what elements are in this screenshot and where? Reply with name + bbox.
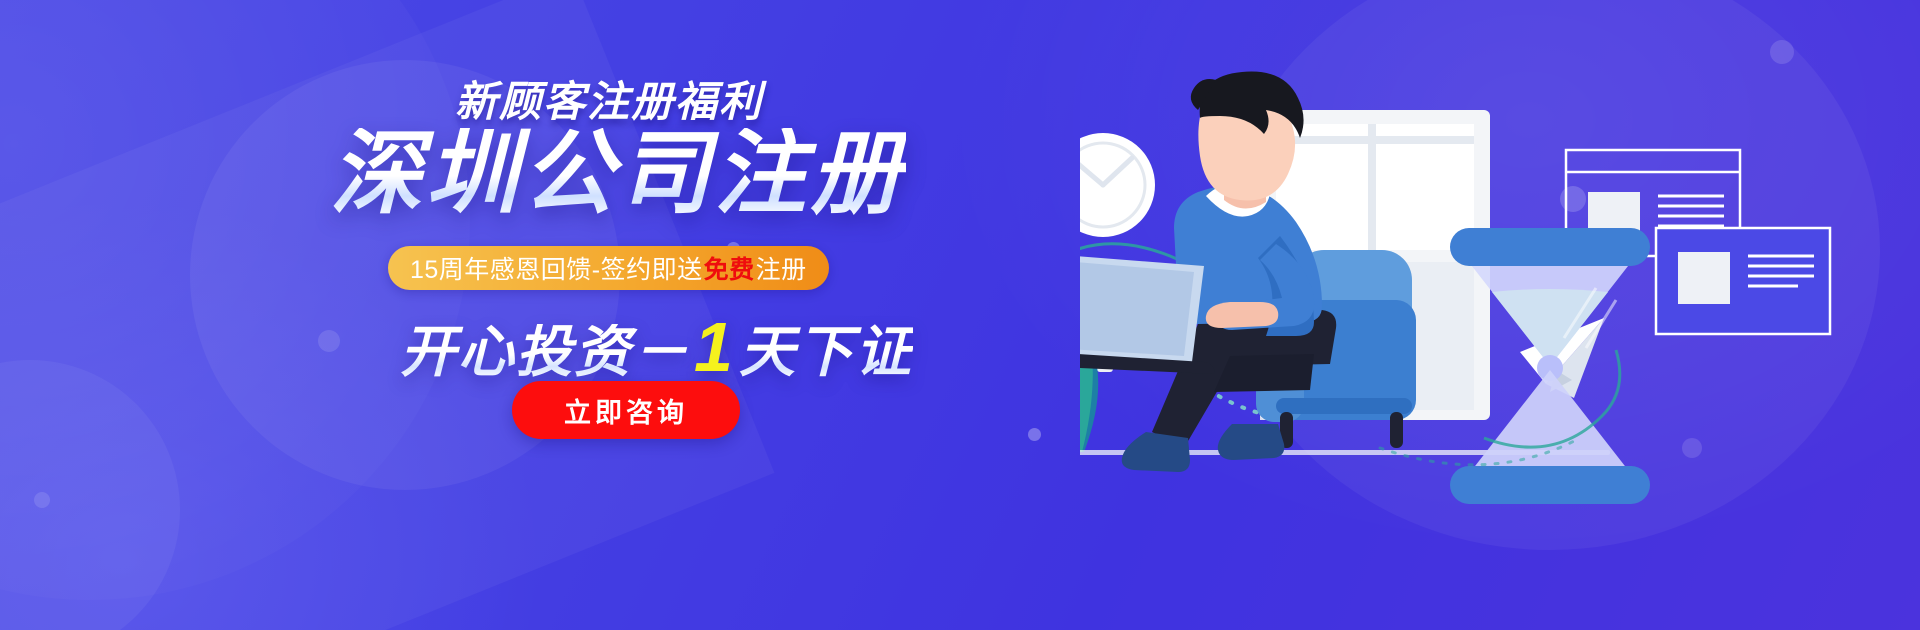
copy-block: 新顾客注册福利 深圳公司注册 15周年感恩回馈-签约即送免费注册 开心投资－1天… xyxy=(0,0,980,630)
tagline: 开心投资－1天下证 xyxy=(400,312,913,382)
tagline-trail: 天下证 xyxy=(739,324,913,380)
promo-pill-prefix: 15周年感恩回馈-签约即送 xyxy=(410,250,703,286)
tagline-number: 1 xyxy=(690,312,739,382)
tagline-lead: 开心投资－ xyxy=(400,324,690,380)
eyebrow-text: 新顾客注册福利 xyxy=(455,68,763,129)
clock-icon xyxy=(1080,133,1155,237)
promo-banner: 新顾客注册福利 深圳公司注册 15周年感恩回馈-签约即送免费注册 开心投资－1天… xyxy=(0,0,1920,630)
background-dot xyxy=(1028,428,1041,441)
hero-illustration xyxy=(1080,0,1920,630)
promo-pill-suffix: 注册 xyxy=(756,250,807,286)
promo-pill: 15周年感恩回馈-签约即送免费注册 xyxy=(388,246,829,290)
page-title: 深圳公司注册 xyxy=(330,128,906,220)
document-card-front xyxy=(1656,228,1830,334)
consult-now-button[interactable]: 立即咨询 xyxy=(512,381,740,439)
promo-pill-highlight: 免费 xyxy=(703,250,756,286)
